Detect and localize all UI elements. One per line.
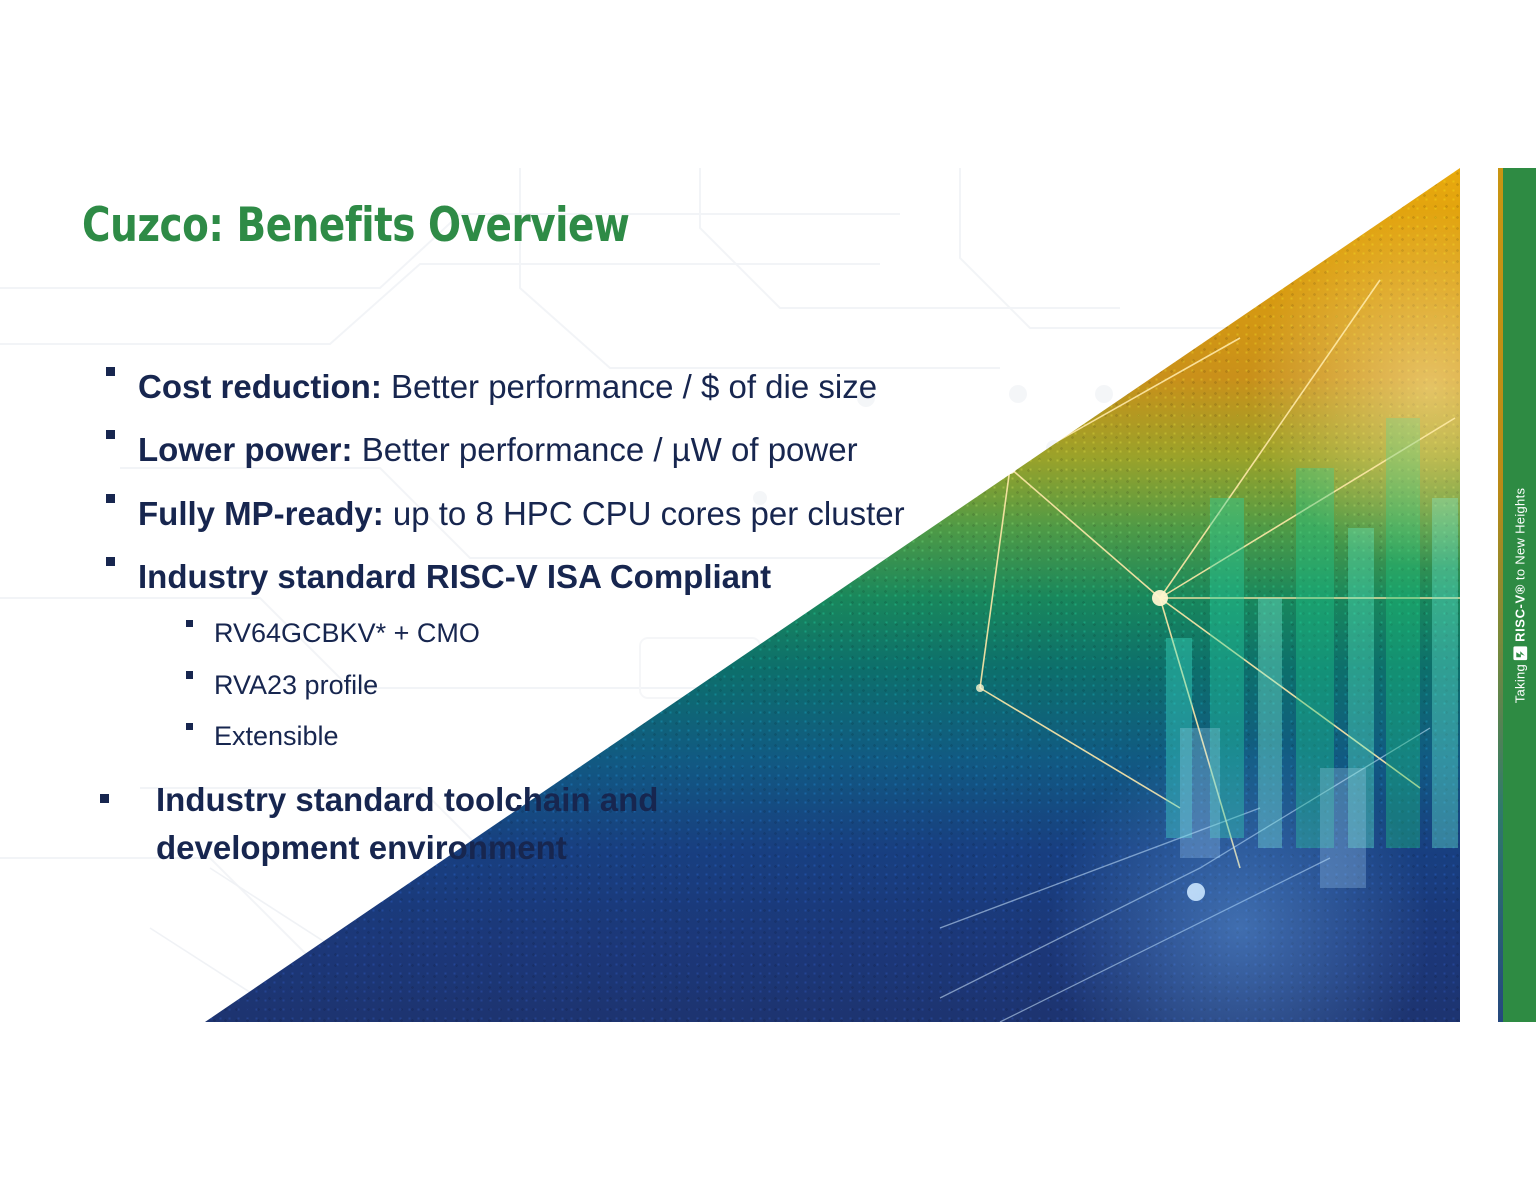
bullet-marker-icon — [106, 418, 138, 450]
bullet-marker-icon — [186, 608, 214, 636]
tagline-suffix: to New Heights — [1512, 487, 1527, 579]
bullet-marker-icon — [106, 545, 138, 577]
bullet-rest: Better performance / $ of die size — [382, 368, 877, 405]
sub-bullet-item: Extensible — [100, 711, 1220, 762]
bullet-marker-icon — [186, 660, 214, 688]
bullet-lead: Fully MP-ready: — [138, 495, 384, 532]
page-title: Cuzco: Benefits Overview — [82, 198, 629, 253]
bullet-marker-icon — [106, 355, 138, 387]
bullet-marker-icon — [186, 711, 214, 739]
bullet-marker-icon — [106, 482, 138, 514]
sub-bullet-item: RVA23 profile — [100, 660, 1220, 711]
tagline-prefix: Taking — [1512, 663, 1527, 702]
sub-bullet-text: RV64GCBKV* + CMO — [214, 608, 480, 659]
bullet-lead: Industry standard RISC-V ISA Compliant — [138, 558, 771, 595]
bullet-lead: Lower power: — [138, 431, 353, 468]
bullet-item: Cost reduction: Better performance / $ o… — [100, 355, 1220, 418]
bullet-rest: up to 8 HPC CPU cores per cluster — [384, 495, 905, 532]
bullet-text: Fully MP-ready: up to 8 HPC CPU cores pe… — [138, 482, 1220, 545]
bullet-text: Lower power: Better performance / µW of … — [138, 418, 1220, 481]
slide-canvas: 20 © 2025 Condor Computing, Inc. – An An… — [0, 0, 1536, 1187]
bullet-text: Industry standard RISC-V ISA Compliant — [138, 545, 1220, 608]
sub-bullet-item: RV64GCBKV* + CMO — [100, 608, 1220, 659]
bullet-rest: Better performance / µW of power — [353, 431, 858, 468]
tagline-brand: RISC-V® — [1512, 584, 1527, 642]
bullet-text: Cost reduction: Better performance / $ o… — [138, 355, 1220, 418]
bullet-lead: Cost reduction: — [138, 368, 382, 405]
bullet-marker-icon — [100, 776, 156, 820]
bullet-text: Industry standard toolchain and developm… — [156, 776, 836, 872]
bullet-list: Cost reduction: Better performance / $ o… — [100, 355, 1220, 872]
riscv-logo-icon — [1513, 645, 1527, 659]
bullet-item: Lower power: Better performance / µW of … — [100, 418, 1220, 481]
vertical-tagline: Taking RISC-V® to New Heights — [1503, 168, 1536, 1022]
sub-bullet-text: Extensible — [214, 711, 339, 762]
sub-bullet-text: RVA23 profile — [214, 660, 378, 711]
bullet-item: Industry standard RISC-V ISA Compliant — [100, 545, 1220, 608]
bullet-item: Fully MP-ready: up to 8 HPC CPU cores pe… — [100, 482, 1220, 545]
bullet-item: Industry standard toolchain and developm… — [100, 776, 1220, 872]
